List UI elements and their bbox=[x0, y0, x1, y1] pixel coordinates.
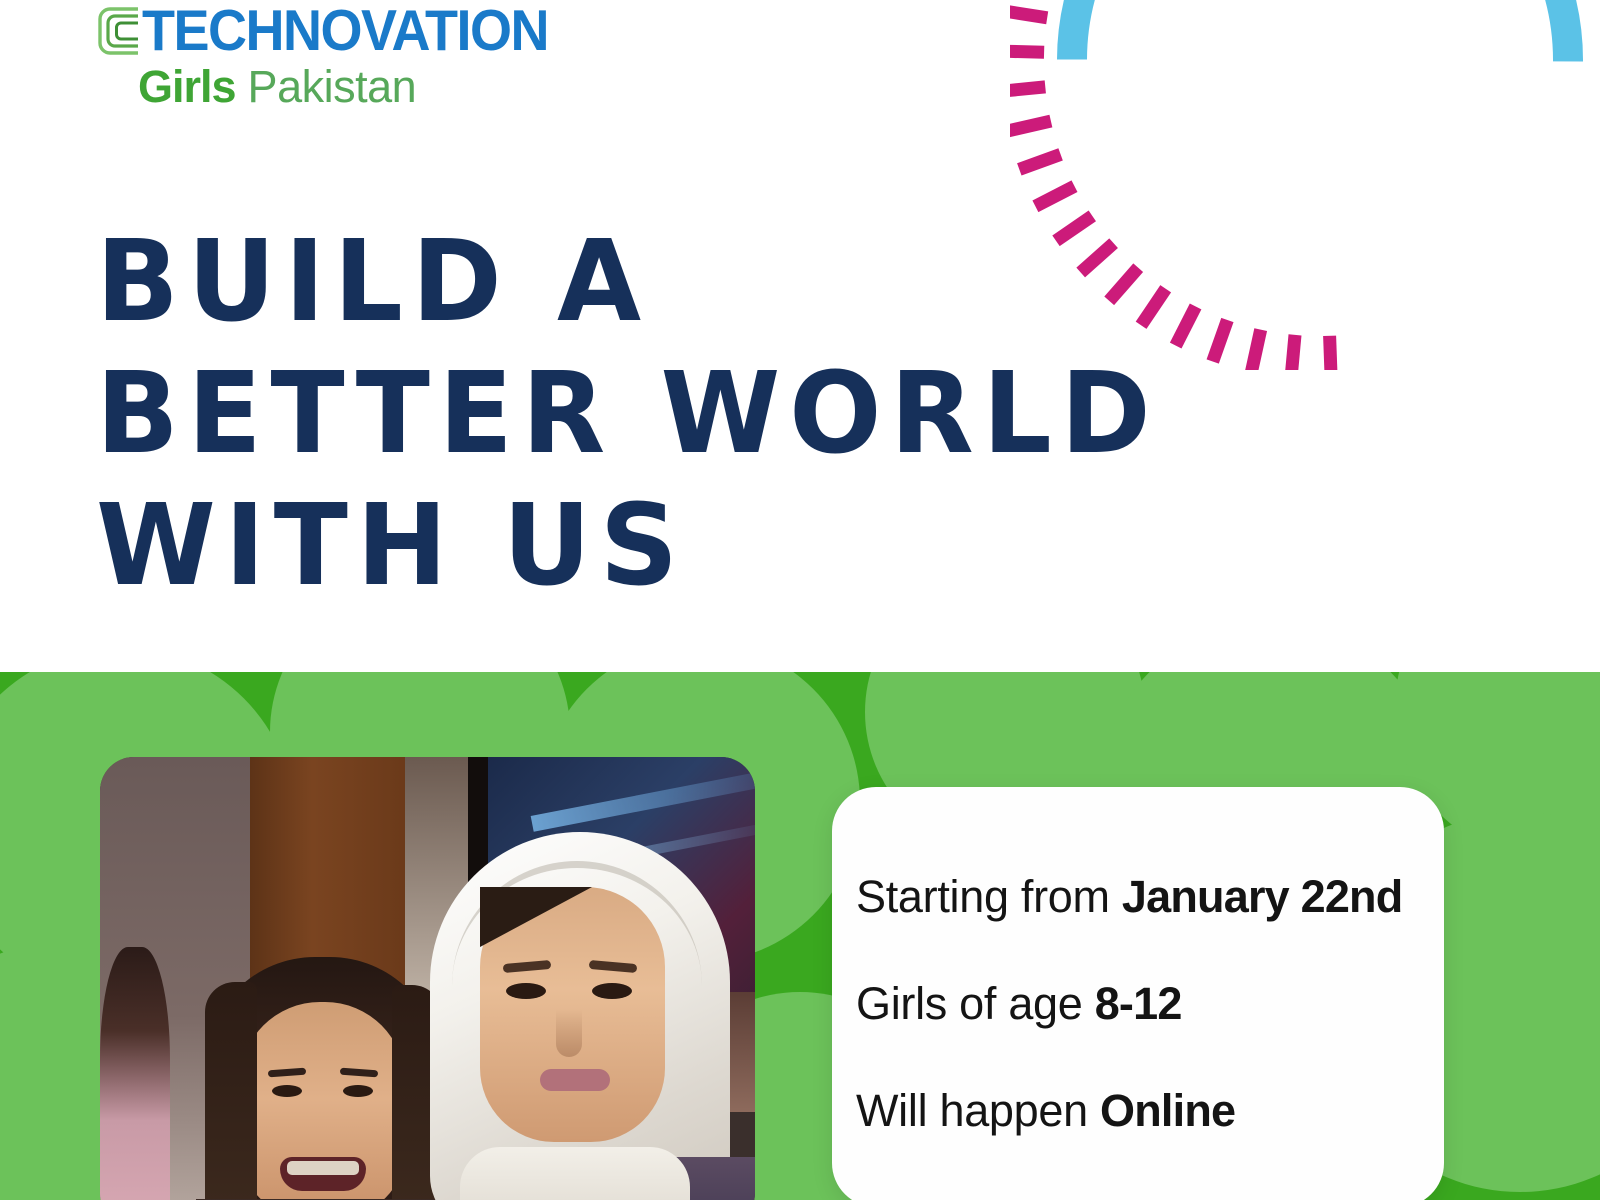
detail-start-date-value: January 22nd bbox=[1122, 871, 1403, 922]
logo-wordmark: TECHNOVATION bbox=[142, 2, 548, 59]
event-details-list: Starting from January 22nd Girls of age … bbox=[856, 874, 1426, 1133]
poster-top-section: TECHNOVATION Girls Pakistan BUILD A BETT… bbox=[0, 0, 1600, 672]
poster-canvas: TECHNOVATION Girls Pakistan BUILD A BETT… bbox=[0, 0, 1600, 1200]
detail-age-range-value: 8-12 bbox=[1095, 978, 1182, 1029]
detail-age-range: Girls of age 8-12 bbox=[856, 981, 1426, 1026]
headline-line-3: WITH US bbox=[96, 480, 1376, 612]
logo-tagline: Girls Pakistan bbox=[138, 64, 416, 109]
detail-start-date: Starting from January 22nd bbox=[856, 874, 1426, 919]
logo-tagline-light: Pakistan bbox=[236, 61, 417, 112]
poster-headline: BUILD A BETTER WORLD WITH US bbox=[96, 216, 1416, 612]
logo-tagline-bold: Girls bbox=[138, 61, 236, 112]
event-details-card: Starting from January 22nd Girls of age … bbox=[832, 787, 1444, 1200]
technovation-participants-photo bbox=[100, 757, 755, 1200]
logo-row: TECHNOVATION bbox=[96, 2, 548, 60]
detail-format-value: Online bbox=[1100, 1085, 1235, 1136]
headline-line-2: BETTER WORLD bbox=[96, 348, 1376, 480]
detail-format: Will happen Online bbox=[856, 1088, 1426, 1133]
technovation-bracket-logo-icon bbox=[96, 5, 144, 57]
detail-format-prefix: Will happen bbox=[856, 1085, 1100, 1136]
headline-line-1: BUILD A bbox=[96, 216, 1376, 348]
brand-logo: TECHNOVATION Girls Pakistan bbox=[96, 2, 548, 109]
poster-green-section: Starting from January 22nd Girls of age … bbox=[0, 672, 1600, 1200]
detail-age-range-prefix: Girls of age bbox=[856, 978, 1095, 1029]
detail-start-date-prefix: Starting from bbox=[856, 871, 1122, 922]
